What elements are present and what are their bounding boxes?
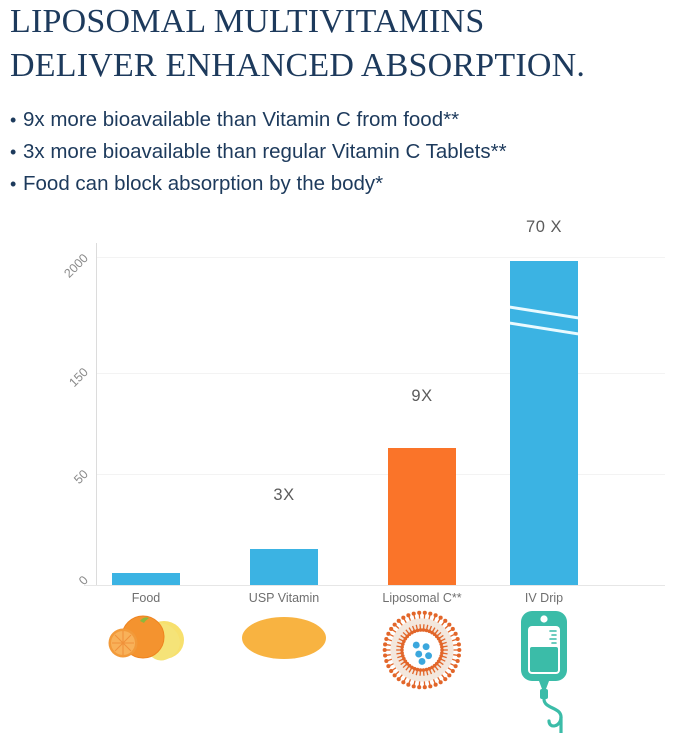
- list-item-label: Food can block absorption by the body*: [23, 168, 383, 199]
- bar-value-liposomal-c: 9X: [388, 387, 456, 406]
- liposome-icon: [381, 609, 463, 691]
- x-axis-label-liposomal-c: Liposomal C**: [366, 591, 478, 605]
- list-item: • 9x more bioavailable than Vitamin C fr…: [10, 104, 675, 136]
- bar-usp-vitamin: [250, 549, 318, 585]
- bullet-dot-icon: •: [10, 137, 23, 168]
- y-axis-line: [96, 243, 97, 585]
- bar-food: [112, 573, 180, 585]
- gridline: [96, 257, 665, 258]
- tablet-pill-icon: [238, 609, 330, 665]
- bar-liposomal-c: [388, 448, 456, 585]
- list-item-label: 3x more bioavailable than regular Vitami…: [23, 136, 507, 167]
- bullet-dot-icon: •: [10, 169, 23, 200]
- y-axis-tick-150: 150: [44, 365, 91, 412]
- iv-drip-bag-icon: [509, 609, 579, 733]
- page-title: LIPOSOMAL MULTIVITAMINS DELIVER ENHANCED…: [10, 0, 675, 88]
- benefits-list: • 9x more bioavailable than Vitamin C fr…: [10, 104, 675, 200]
- icon-slot-usp-vitamin: [232, 609, 336, 665]
- icon-slot-food: [102, 609, 190, 669]
- bullet-dot-icon: •: [10, 105, 23, 136]
- bar-value-iv-drip: 70 X: [510, 218, 578, 237]
- list-item: • 3x more bioavailable than regular Vita…: [10, 136, 675, 168]
- icon-slot-liposomal-c: [366, 609, 478, 691]
- headline-line-1: LIPOSOMAL MULTIVITAMINS: [10, 0, 675, 44]
- list-item-label: 9x more bioavailable than Vitamin C from…: [23, 104, 459, 135]
- y-axis-tick-50: 50: [49, 467, 91, 509]
- icon-slot-iv-drip: [500, 609, 588, 733]
- bioavailability-bar-chart: 2000 150 50 0 3X 9X 70 X Food USP Vitami…: [0, 205, 679, 743]
- bar-iv-drip: [510, 261, 578, 585]
- axis-break-line: [510, 305, 578, 320]
- x-axis-label-food: Food: [102, 591, 190, 605]
- gridline: [96, 474, 665, 475]
- bar-value-usp-vitamin: 3X: [250, 486, 318, 505]
- x-axis-label-usp-vitamin: USP Vitamin: [232, 591, 336, 605]
- y-axis-tick-2000: 2000: [37, 251, 91, 305]
- headline-line-2: DELIVER ENHANCED ABSORPTION.: [10, 44, 675, 88]
- y-axis-tick-0: 0: [56, 573, 91, 608]
- gridline: [96, 373, 665, 374]
- axis-break-line: [510, 321, 578, 336]
- x-axis-line: [84, 585, 665, 586]
- chart-plot-area: [96, 243, 665, 585]
- x-axis-label-iv-drip: IV Drip: [500, 591, 588, 605]
- orange-fruit-icon: [107, 609, 185, 669]
- list-item: • Food can block absorption by the body*: [10, 168, 675, 200]
